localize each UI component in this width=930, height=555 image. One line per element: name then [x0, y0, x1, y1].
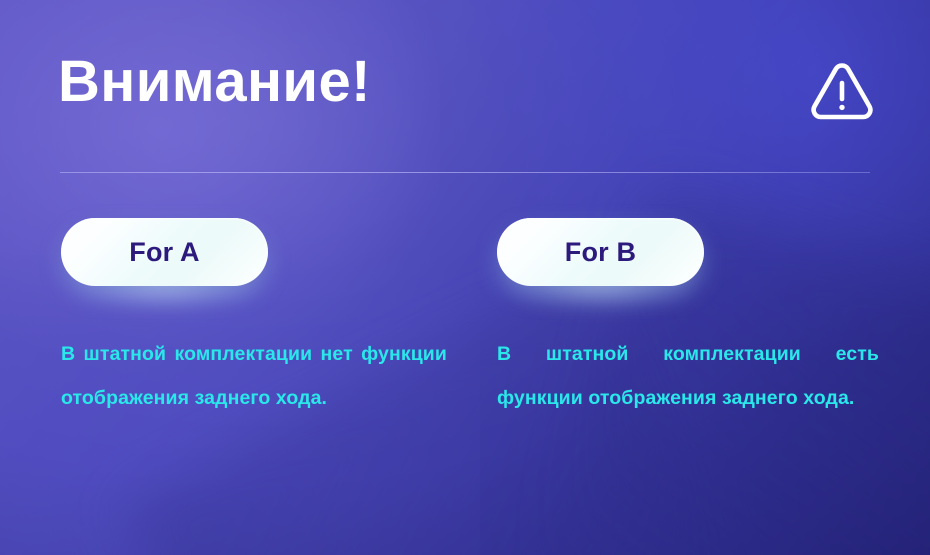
column-for-a-text: В штатной комплектации нет функции отобр…: [61, 332, 447, 420]
slide-root: Внимание! For A В штатной комплектации н…: [0, 0, 930, 555]
button-for-b-wrapper: For B: [497, 218, 704, 286]
button-for-a-wrapper: For A: [61, 218, 268, 286]
button-for-a[interactable]: For A: [61, 218, 268, 286]
slide-content: Внимание! For A В штатной комплектации н…: [0, 0, 930, 555]
button-for-b[interactable]: For B: [497, 218, 704, 286]
header-divider: [60, 172, 870, 173]
button-for-b-label: For B: [497, 218, 704, 286]
button-for-a-label: For A: [61, 218, 268, 286]
column-for-a: For A В штатной комплектации нет функции…: [61, 218, 456, 440]
column-for-b: For B В штатной комплектации есть функци…: [497, 218, 892, 440]
page-title: Внимание!: [58, 52, 371, 113]
column-for-b-text: В штатной комплектации есть функции отоб…: [497, 332, 879, 420]
warning-triangle-icon: [808, 58, 876, 124]
